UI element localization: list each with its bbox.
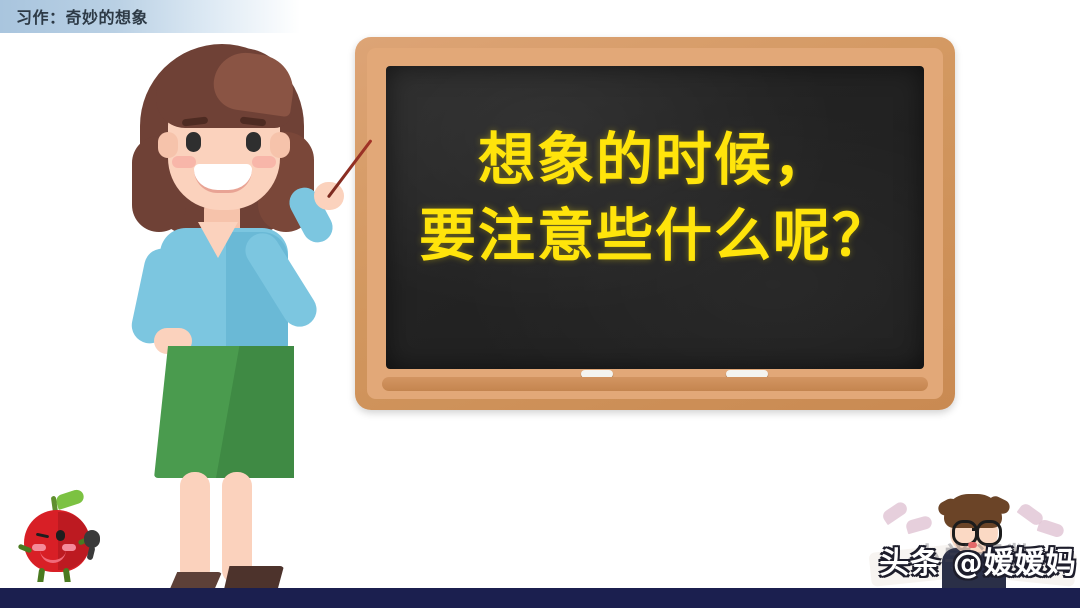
teacher-ear-left — [158, 132, 178, 158]
teacher-ear-right — [270, 132, 290, 158]
leaf-decoration-1 — [881, 500, 910, 525]
teacher-blush-right — [252, 156, 276, 168]
blackboard-text: 想象的时候， 要注意些什么呢？ — [386, 122, 924, 274]
teacher-blush-left — [172, 156, 196, 168]
apple-leaf-icon — [55, 488, 86, 510]
watermark-text: 头条 @嫒嫒妈 — [878, 538, 1078, 582]
teacher-eye-left — [186, 132, 201, 152]
leaf-decoration-2 — [905, 515, 934, 535]
blackboard-line-2: 要注意些什么呢？ — [386, 198, 924, 274]
blackboard-line-1: 想象的时候， — [386, 122, 924, 198]
page-title: 习作：奇妙的想象 — [16, 4, 148, 28]
apple-mascot — [14, 492, 110, 602]
blackboard-frame: 想象的时候， 要注意些什么呢？ — [355, 37, 955, 410]
blackboard-frame-inner: 想象的时候， 要注意些什么呢？ — [367, 48, 943, 399]
teacher-leg-left — [180, 472, 210, 584]
footer-band — [0, 588, 1080, 608]
glasses-bridge — [972, 528, 978, 531]
teacher-illustration — [118, 32, 368, 588]
teacher-eye-right — [246, 132, 261, 152]
title-band: 习作：奇妙的想象 — [0, 0, 300, 33]
slide-canvas: 习作：奇妙的想象 想象的时候， 要注意些什么呢？ — [0, 0, 1080, 608]
blackboard-surface: 想象的时候， 要注意些什么呢？ — [386, 66, 924, 369]
chalk-tray — [382, 377, 928, 391]
apple-eye-open — [56, 530, 65, 541]
